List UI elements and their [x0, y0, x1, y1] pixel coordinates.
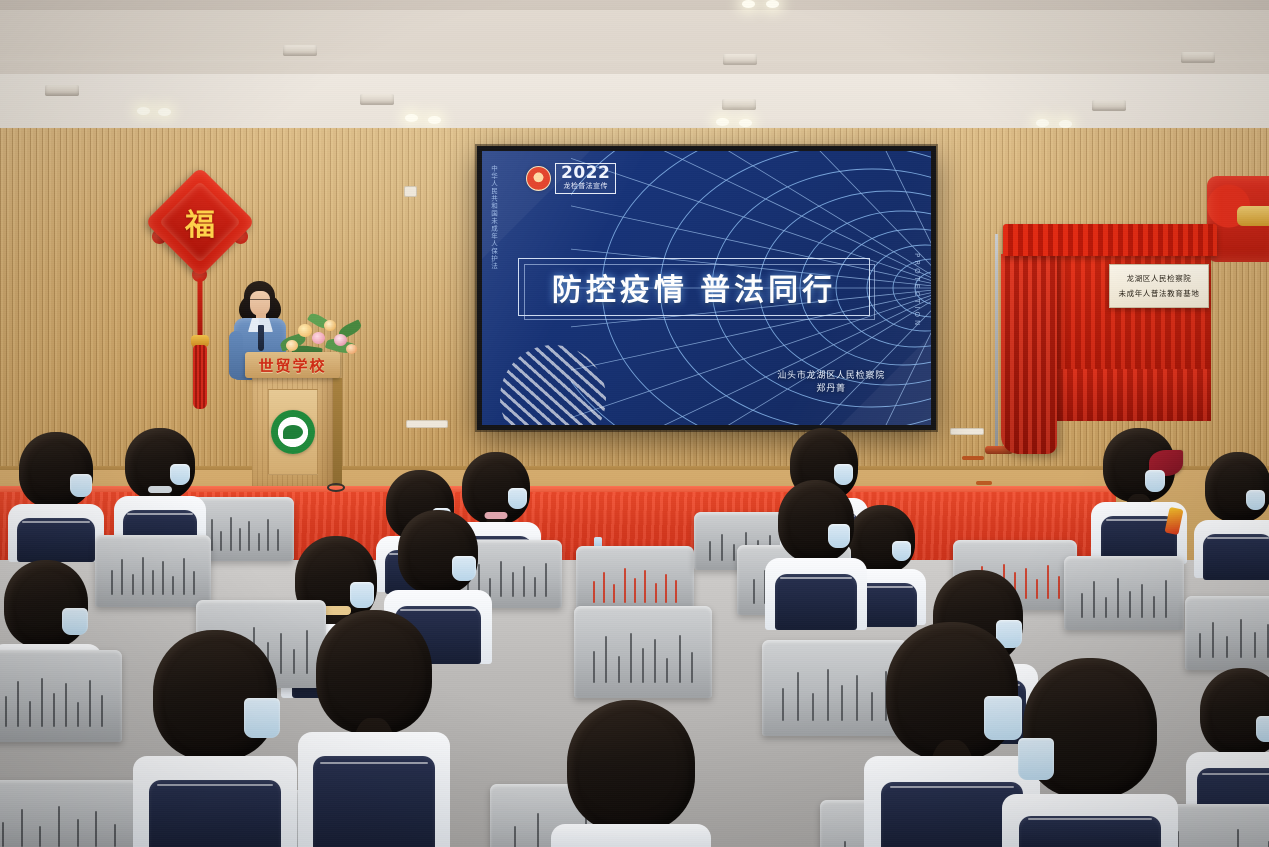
podium-front-panel: [268, 389, 318, 475]
ceiling-downlight: [428, 116, 441, 124]
ceiling-downlight: [766, 0, 779, 8]
badge-year: 2022: [561, 165, 610, 182]
wall-access-panel: [406, 420, 448, 428]
ceiling-downlight: [158, 108, 171, 116]
face-mask: [70, 474, 92, 497]
student-audience-member: [556, 700, 706, 847]
auditorium-chair[interactable]: [1185, 596, 1269, 670]
auditorium-chair[interactable]: [0, 650, 122, 742]
podium-school-name: 世贸学校: [258, 355, 326, 376]
table-microphone-cable: [327, 483, 345, 492]
plaque-unveiling-curtain: 龙湖区人民检察院 未成年人普法教育基地: [1003, 224, 1217, 456]
plaque-line-1: 龙湖区人民检察院: [1127, 273, 1192, 284]
speaker-tie: [258, 325, 264, 351]
podium-body: [252, 377, 333, 493]
ceiling-downlight: [1059, 120, 1072, 128]
ceiling-recess-fixture: [283, 45, 317, 56]
student-audience-member: [768, 480, 864, 638]
presentation-slide: 中华人民共和国未成年人保护法 PROTECTION 2022 龙检普法宣传 防控…: [482, 151, 931, 425]
speaker-glasses: [250, 299, 270, 304]
face-mask: [62, 608, 88, 635]
curtain-stand-pole: [995, 234, 998, 450]
auditorium-photo: 福: [0, 0, 1269, 847]
lectern-podium: 世贸学校: [249, 352, 336, 492]
knot-cord: [198, 278, 203, 342]
student-audience-member: [304, 610, 444, 847]
student-audience-member: [1093, 428, 1185, 568]
curtain-skirt: [1053, 369, 1211, 421]
ceiling-downlight: [1036, 119, 1049, 127]
slide-signature: 汕头市龙湖区人民检察院 郑丹菁: [777, 369, 885, 395]
floor-cable: [976, 481, 992, 485]
auditorium-chair[interactable]: [1064, 556, 1184, 630]
slide-vertical-text-right: PROTECTION: [913, 253, 921, 328]
knot-tassel: [193, 345, 207, 409]
face-mask: [452, 556, 476, 581]
procuratorate-emblem-icon: [526, 166, 551, 191]
face-mask: [170, 464, 190, 485]
plaque-line-2: 未成年人普法教育基地: [1119, 288, 1200, 299]
student-audience-member: [140, 630, 290, 847]
auditorium-chair[interactable]: [0, 780, 138, 847]
floor-cable: [962, 456, 984, 460]
chinese-knot-fu-decoration: 福: [157, 183, 243, 261]
badge-subtitle: 龙检普法宣传: [561, 183, 610, 191]
student-audience-member: [1010, 658, 1170, 847]
ceiling-recess-fixture: [45, 85, 79, 96]
ceiling-downlight: [405, 114, 418, 122]
podium-side: [333, 378, 342, 492]
hair-tie: [148, 486, 172, 493]
ceiling-recess-fixture: [1181, 52, 1215, 63]
knot-gold-accent: [1237, 206, 1269, 226]
face-mask: [244, 698, 280, 738]
ceiling-downlight: [739, 119, 752, 127]
signature-org: 汕头市龙湖区人民检察院: [777, 369, 885, 382]
face-mask: [508, 488, 527, 509]
student-audience-member: [1196, 452, 1269, 584]
face-mask: [1246, 490, 1265, 510]
ceiling-downlight: [742, 0, 755, 8]
curtain-left-drape: [1001, 254, 1057, 454]
face-mask: [1145, 470, 1165, 492]
auditorium-chair[interactable]: [574, 606, 712, 698]
slide-vertical-text-left: 中华人民共和国未成年人保护法: [489, 165, 496, 270]
ceiling-downlight: [137, 107, 150, 115]
ceiling-recess-fixture: [1092, 100, 1126, 111]
face-mask: [892, 541, 911, 561]
badge-box: 2022 龙检普法宣传: [555, 163, 616, 194]
wall-access-panel: [404, 186, 417, 197]
ceiling-downlight: [716, 118, 729, 126]
curtain-valance: [1003, 224, 1217, 256]
auditorium-chair[interactable]: [95, 535, 211, 607]
ceiling-recess-fixture: [722, 99, 756, 110]
education-base-plaque: 龙湖区人民检察院 未成年人普法教育基地: [1109, 264, 1209, 308]
auditorium-chair[interactable]: [576, 546, 694, 614]
fu-character: 福: [161, 183, 239, 261]
school-crest-logo: [271, 410, 315, 454]
face-mask: [1256, 716, 1269, 742]
wall-access-panel: [950, 428, 984, 435]
signature-name: 郑丹菁: [777, 382, 885, 395]
ceiling-recess-fixture: [723, 54, 757, 65]
ceiling-recess-fixture: [360, 94, 394, 105]
student-audience-member: [10, 432, 102, 562]
slide-campaign-badge: 2022 龙检普法宣传: [526, 163, 616, 194]
face-mask: [350, 582, 374, 608]
slide-title: 防控疫情 普法同行: [532, 263, 856, 311]
podium-header-plate: 世贸学校: [245, 352, 340, 378]
face-mask: [828, 524, 850, 548]
face-mask: [1018, 738, 1054, 780]
knot-diamond-body: 福: [145, 167, 255, 277]
projection-screen[interactable]: 中华人民共和国未成年人保护法 PROTECTION 2022 龙检普法宣传 防控…: [477, 146, 936, 430]
